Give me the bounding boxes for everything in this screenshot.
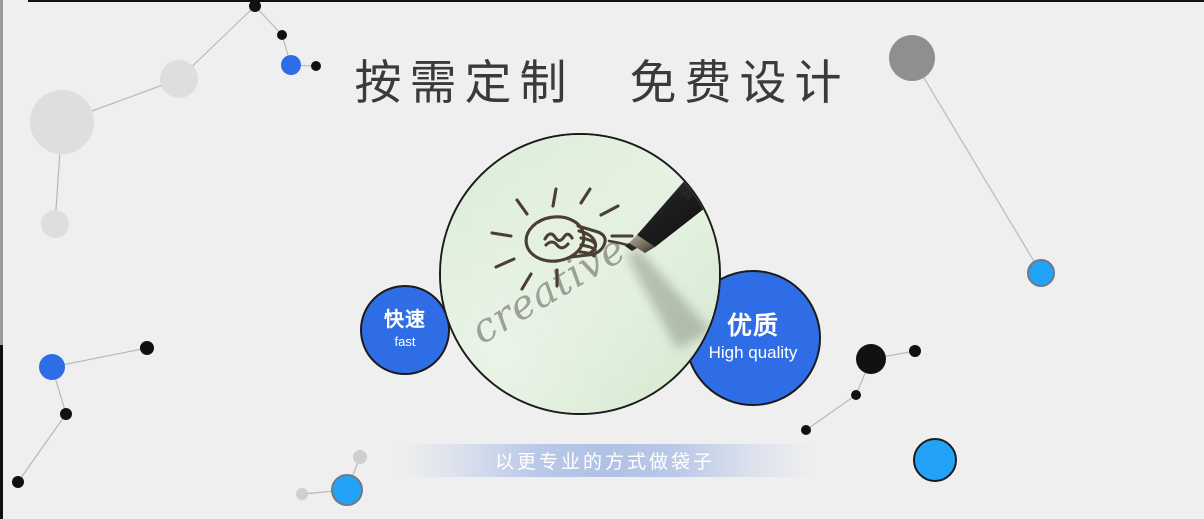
feature-circles-stage: 优质 High quality 快速 fast creative	[0, 0, 1204, 519]
feature-bubble-quality-cn: 优质	[727, 312, 779, 341]
feature-bubble-fast-en: fast	[395, 334, 416, 351]
pen-shadow	[627, 247, 711, 349]
tagline-text: 以更专业的方式做袋子	[495, 447, 715, 474]
creative-photo-circle: creative	[439, 133, 721, 415]
feature-bubble-fast-cn: 快速	[384, 309, 426, 332]
pen	[625, 155, 721, 253]
lightbulb-sketch	[492, 189, 632, 289]
promo-banner: 按需定制 免费设计 优质 High quality 快速 fast creati…	[0, 0, 1204, 519]
tagline-ribbon: 以更专业的方式做袋子	[398, 444, 812, 477]
lightbulb-pen-drawing	[441, 135, 721, 415]
feature-bubble-fast[interactable]: 快速 fast	[360, 285, 450, 375]
feature-bubble-quality-en: High quality	[709, 342, 798, 364]
